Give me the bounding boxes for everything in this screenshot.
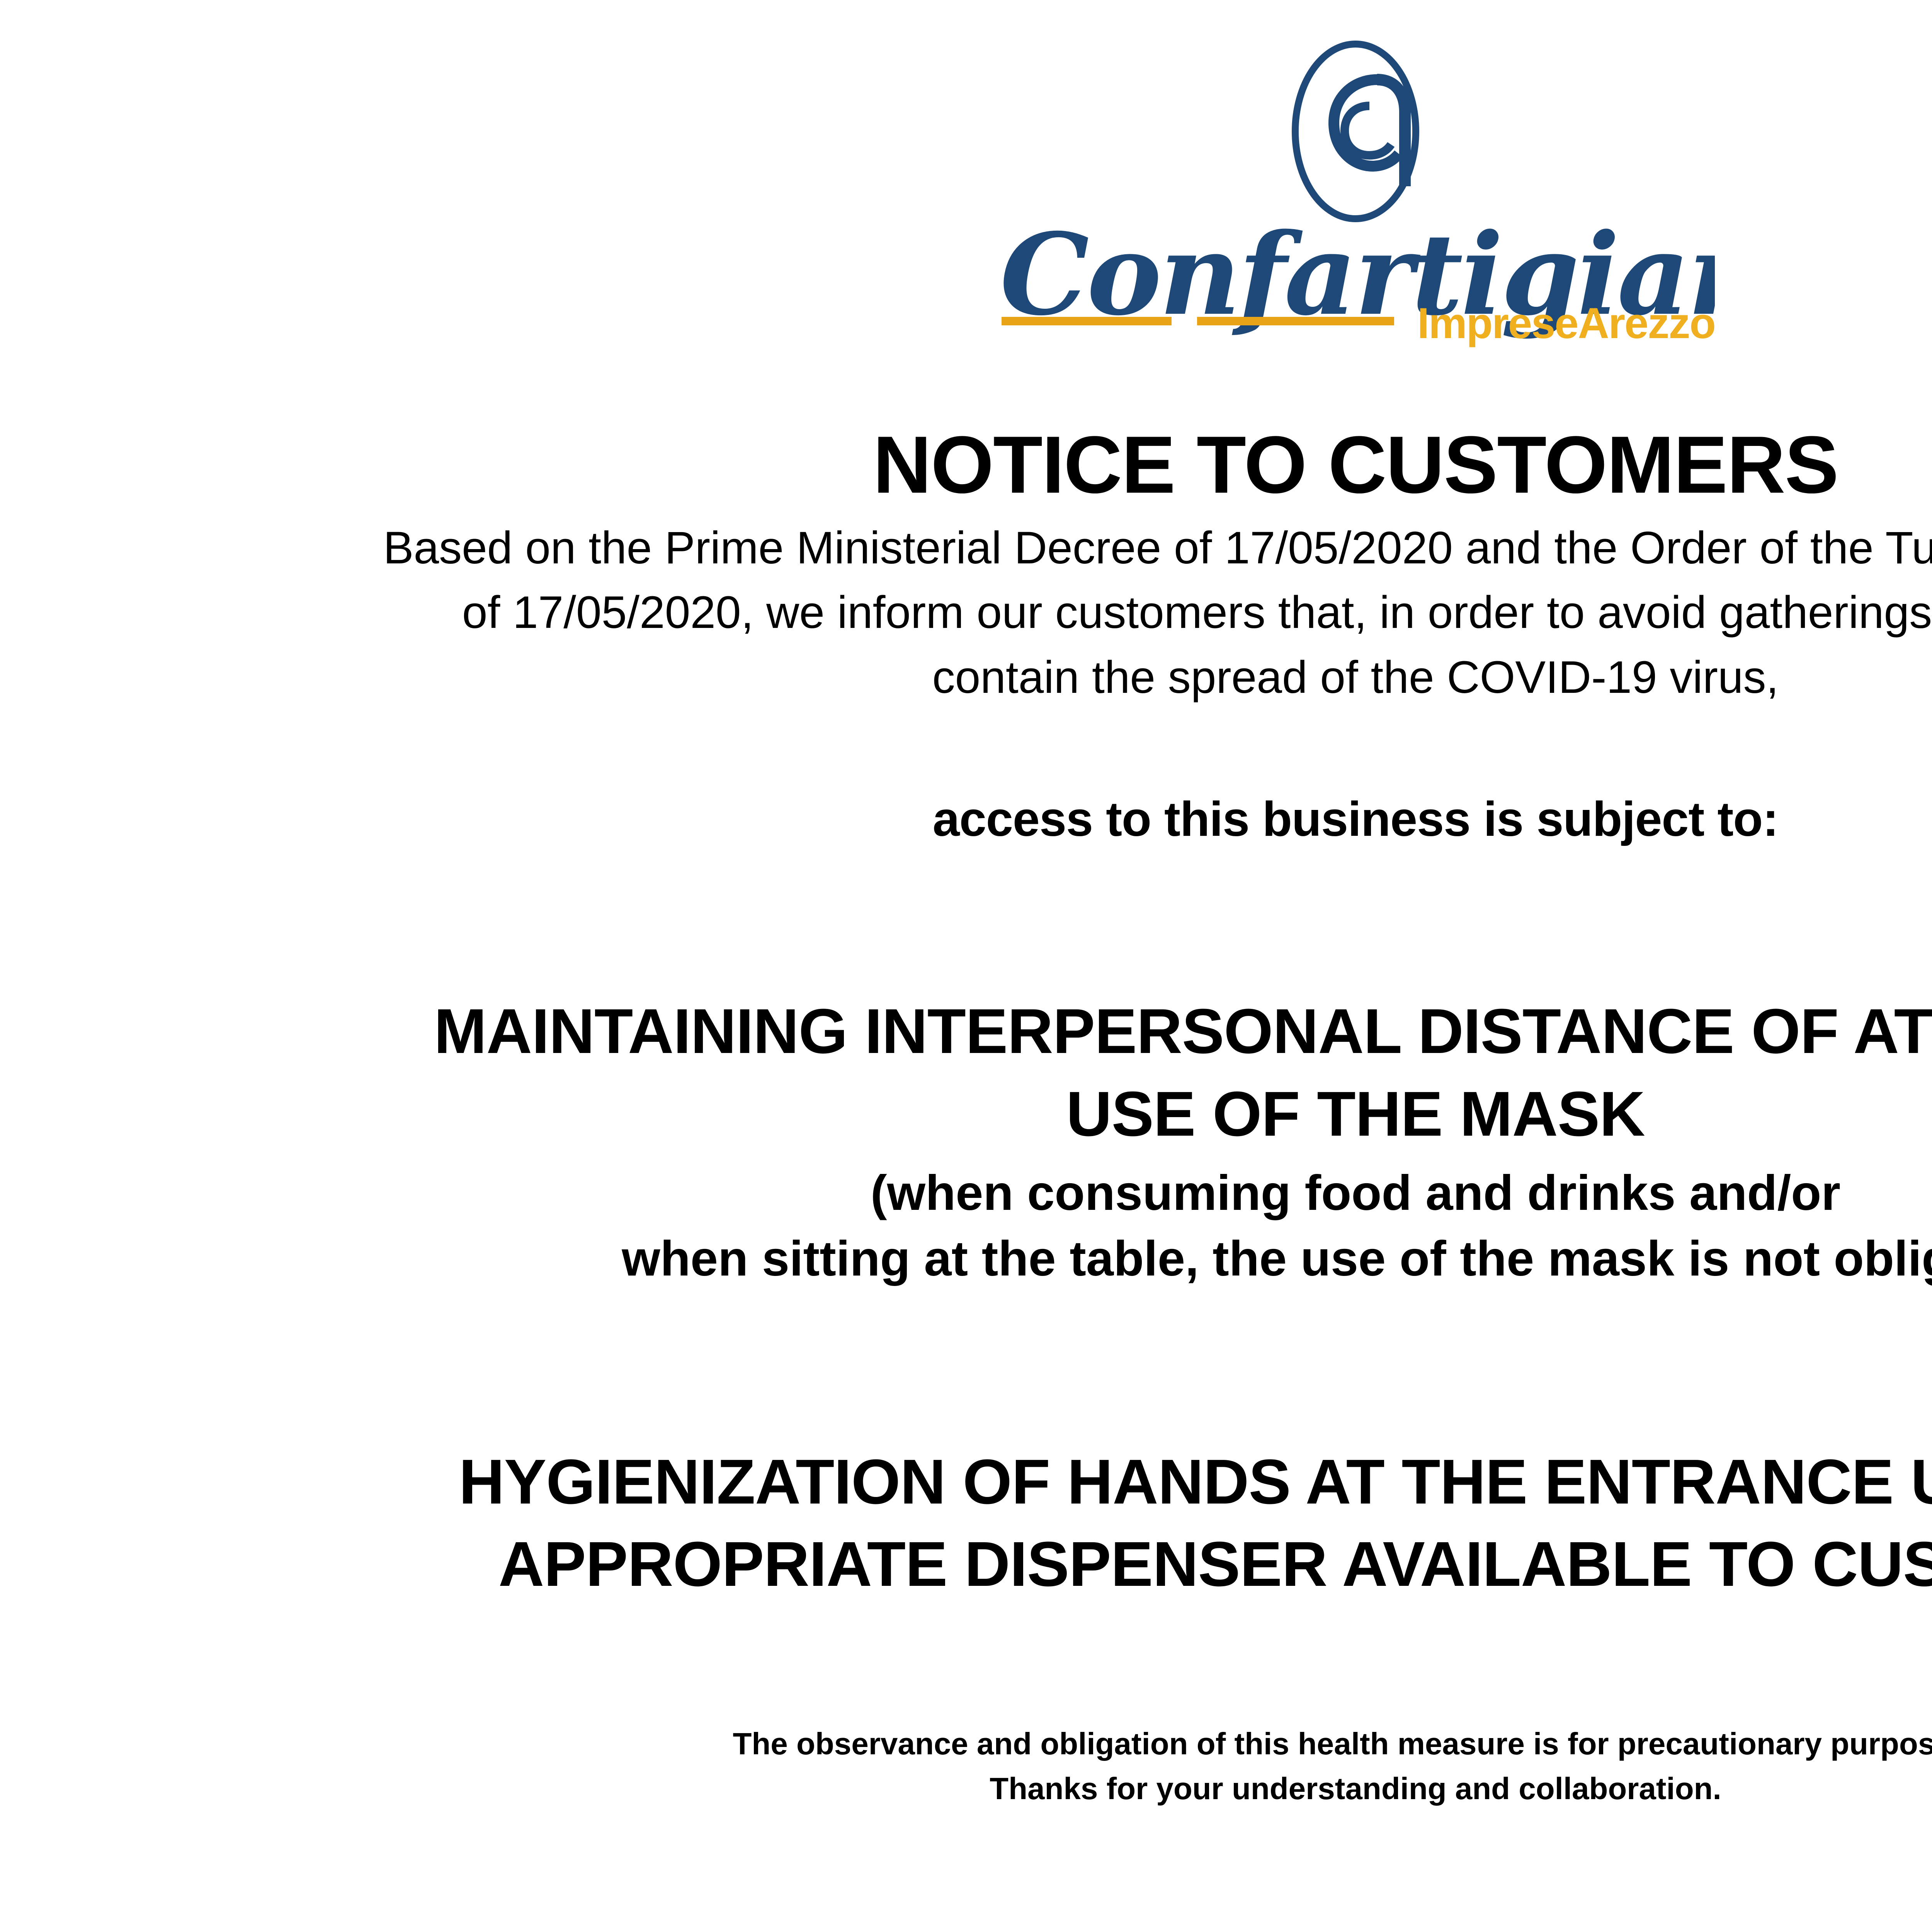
confartigianato-a-emblem-icon — [1278, 35, 1433, 228]
rules-group-primary: MAINTAINING INTERPERSONAL DISTANCE OF AT… — [0, 990, 1932, 1292]
intro-line-3: contain the spread of the COVID-19 virus… — [274, 645, 1932, 710]
rule-mask-exception: (when consuming food and drinks and/or w… — [0, 1160, 1932, 1292]
rule-hand-hygiene-line-1: HYGIENIZATION OF HANDS AT THE ENTRANCE U… — [0, 1441, 1932, 1523]
page-title: NOTICE TO CUSTOMERS — [0, 421, 1932, 509]
subject-line: access to this business is subject to: — [0, 791, 1932, 847]
brand-wordmark-group: Confartigianato ImpreseArezzo — [996, 221, 1715, 349]
rule-use-of-mask: USE OF THE MASK — [0, 1073, 1932, 1155]
mask-exception-line-1: (when consuming food and drinks and/or — [0, 1160, 1932, 1226]
notice-content: NOTICE TO CUSTOMERS Based on the Prime M… — [0, 421, 1932, 1812]
rules-group-hygiene: HYGIENIZATION OF HANDS AT THE ENTRANCE U… — [0, 1441, 1932, 1605]
gold-rule-left — [1002, 317, 1172, 325]
gold-rule-right — [1197, 317, 1394, 325]
intro-paragraph: Based on the Prime Ministerial Decree of… — [274, 516, 1932, 710]
footer-note: The observance and obligation of this he… — [0, 1721, 1932, 1812]
brand-logo: Confartigianato ImpreseArezzo — [0, 35, 1932, 349]
notice-poster-page: Confartigianato ImpreseArezzo NOTICE TO … — [0, 0, 1932, 1917]
mask-exception-line-2: when sitting at the table, the use of th… — [0, 1226, 1932, 1292]
intro-line-2: of 17/05/2020, we inform our customers t… — [274, 580, 1932, 645]
rule-hand-hygiene-line-2: APPROPRIATE DISPENSER AVAILABLE TO CUSTO… — [0, 1523, 1932, 1605]
intro-line-1: Based on the Prime Ministerial Decree of… — [274, 516, 1932, 581]
brand-subtitle: ImpreseArezzo — [1417, 298, 1715, 348]
footer-line-1: The observance and obligation of this he… — [0, 1721, 1932, 1767]
footer-line-2: Thanks for your understanding and collab… — [0, 1766, 1932, 1812]
rule-interpersonal-distance: MAINTAINING INTERPERSONAL DISTANCE OF AT… — [0, 990, 1932, 1072]
